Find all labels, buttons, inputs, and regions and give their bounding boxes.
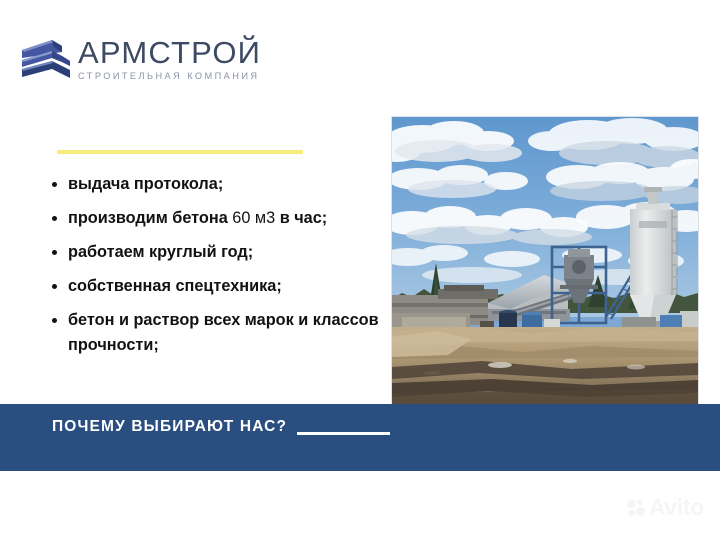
concrete-batching-plant-photo	[392, 117, 698, 405]
yellow-accent-rule	[57, 150, 303, 154]
slide-root: АРМСТРОЙ СТРОИТЕЛЬНАЯ КОМПАНИЯ выдача пр…	[0, 0, 720, 539]
list-item-text: выдача протокола;	[68, 175, 223, 193]
banner-divider-rule	[297, 432, 390, 435]
avito-watermark: Avito	[626, 496, 704, 519]
list-item-text-tail: в час;	[275, 209, 327, 227]
logo-subtitle: СТРОИТЕЛЬНАЯ КОМПАНИЯ	[78, 71, 261, 81]
list-item: производим бетона 60 м3 в час;	[46, 206, 386, 231]
armstroy-building-logo-icon	[18, 36, 70, 84]
list-item: выдача протокола;	[46, 172, 386, 197]
avito-watermark-text: Avito	[649, 496, 704, 519]
logo-title: АРМСТРОЙ	[78, 37, 261, 68]
company-logo: АРМСТРОЙ СТРОИТЕЛЬНАЯ КОМПАНИЯ	[18, 36, 261, 84]
list-item: бетон и раствор всех марок и классов про…	[46, 308, 386, 358]
list-item-text: бетон и раствор всех марок и классов про…	[68, 311, 379, 354]
list-item: работаем круглый год;	[46, 240, 386, 265]
list-item-text: собственная спецтехника;	[68, 277, 282, 295]
logo-wordmark: АРМСТРОЙ СТРОИТЕЛЬНАЯ КОМПАНИЯ	[78, 36, 261, 81]
list-item: собственная спецтехника;	[46, 274, 386, 299]
avito-logo-icon	[626, 498, 646, 518]
why-choose-us-banner: ПОЧЕМУ ВЫБИРАЮТ НАС?	[0, 404, 720, 471]
banner-title: ПОЧЕМУ ВЫБИРАЮТ НАС?	[52, 413, 292, 441]
list-item-text: работаем круглый год;	[68, 243, 253, 261]
list-item-highlight: 60 м3	[232, 209, 275, 227]
features-list: выдача протокола; производим бетона 60 м…	[46, 172, 386, 367]
list-item-text: производим бетона	[68, 209, 232, 227]
